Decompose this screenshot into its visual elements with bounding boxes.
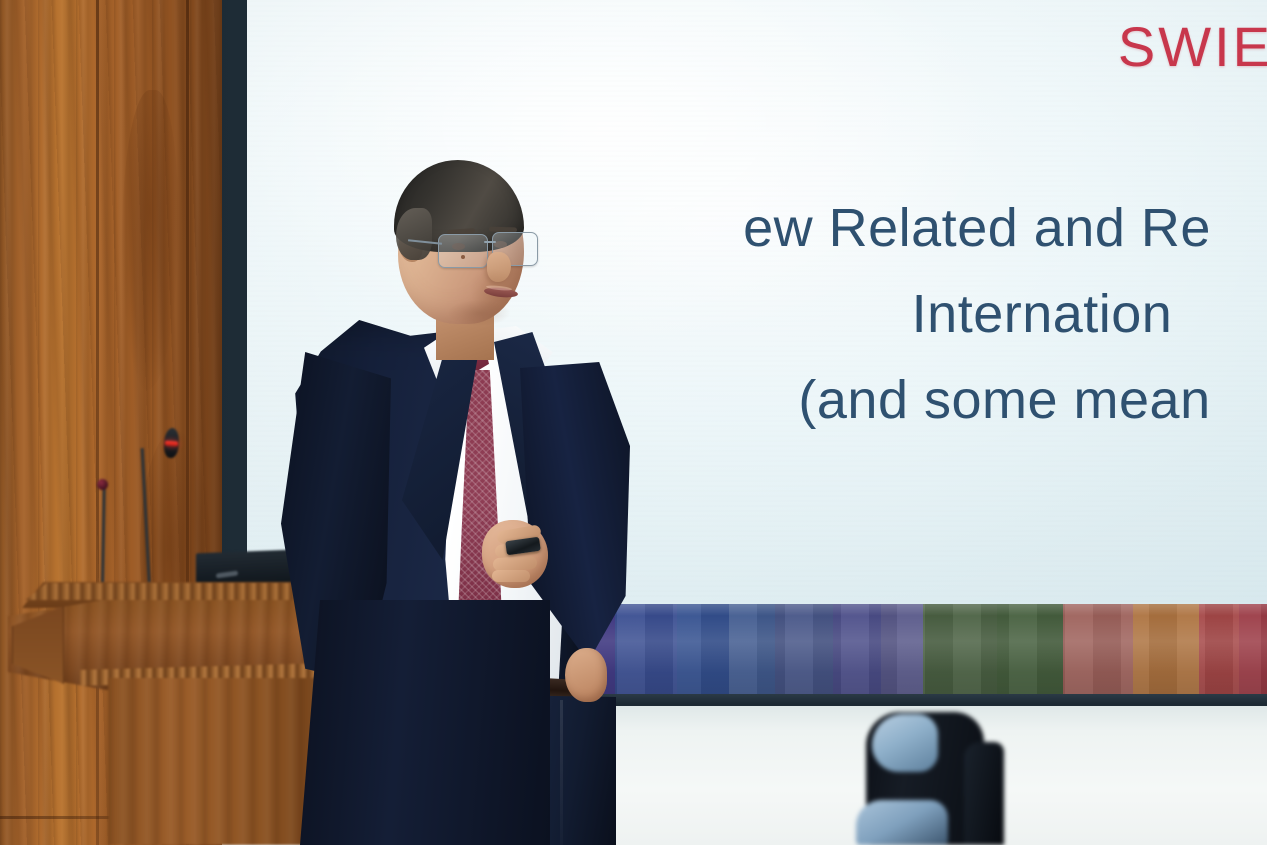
hair-temple: [396, 208, 432, 260]
chin-shading: [448, 300, 510, 326]
jacket-skirt: [300, 600, 550, 845]
chair-side-panel: [964, 742, 1004, 845]
trouser-crease: [560, 700, 563, 845]
facial-mole: [461, 255, 465, 259]
speaker: [0, 0, 1267, 845]
chair-backrest-highlight: [872, 714, 938, 772]
finger: [492, 570, 530, 582]
presentation-photo: SWIE ew Related and Re Internation (and …: [0, 0, 1267, 845]
eyeglasses-bridge: [484, 241, 496, 243]
hand-in-pocket: [565, 648, 607, 702]
finger: [493, 556, 538, 571]
chair-armrest: [856, 800, 948, 845]
eyeglasses-lens-left: [438, 234, 488, 268]
